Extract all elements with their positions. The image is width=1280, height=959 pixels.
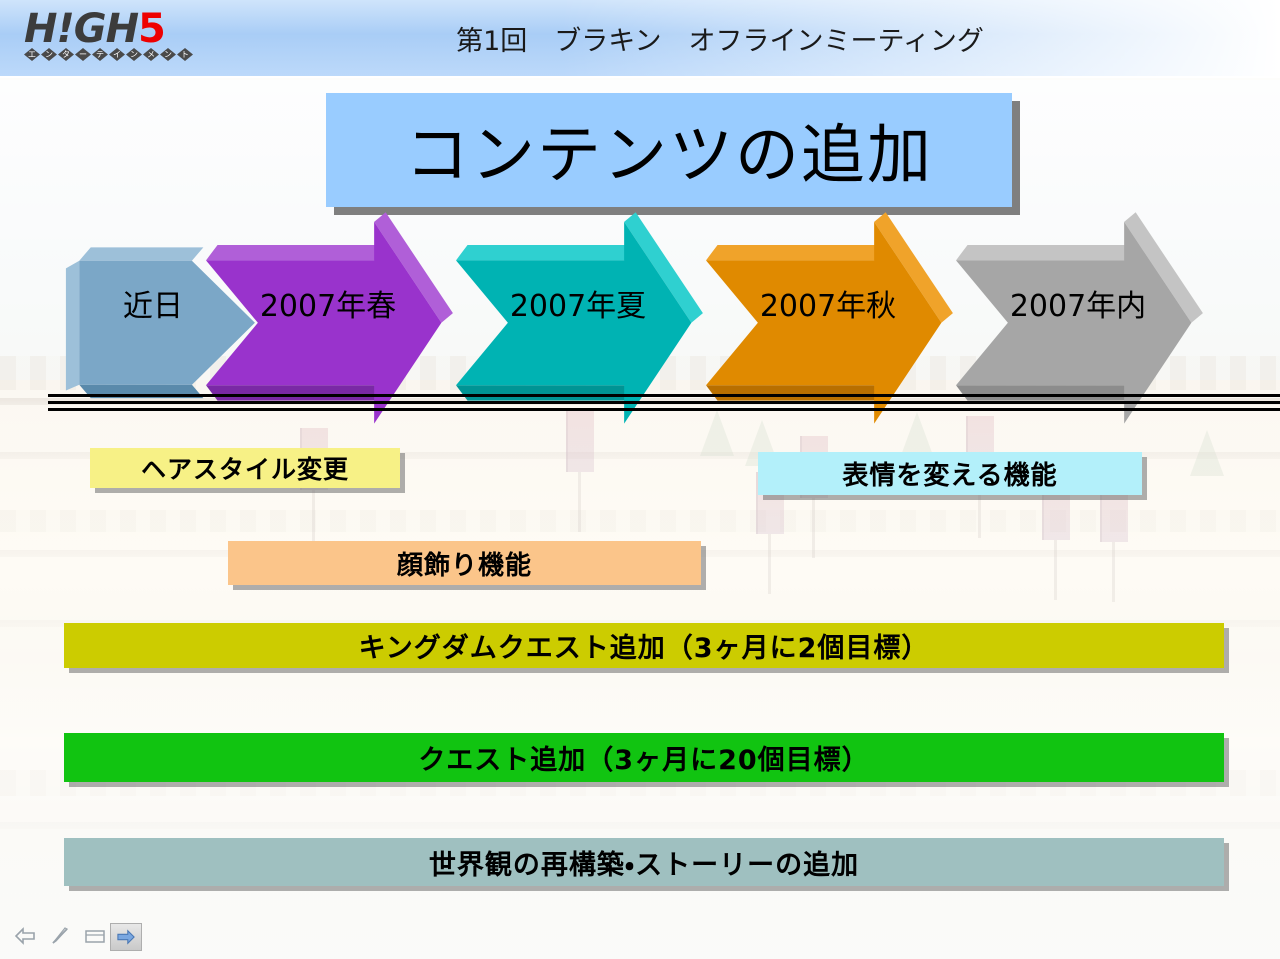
feature-bar-1: ヘアスタイル変更 [90,448,400,488]
logo-text-part2: GH [74,6,138,52]
page-title: コンテンツの追加 [405,104,933,196]
back-arrow-icon[interactable] [10,923,40,949]
timeline-arrow-3[interactable] [446,195,691,420]
page-title-box: コンテンツの追加 [326,93,1012,207]
logo-text-part1: H [24,6,56,52]
logo-exclamation-icon: ! [56,6,73,52]
divider-line [48,408,1280,411]
high5-logo: H!GH5 エンターテインメント [24,7,214,69]
logo-subtitle-char: ト [177,48,193,61]
forward-arrow-icon[interactable] [110,923,142,951]
menu-box-icon[interactable] [80,923,110,949]
timeline-arrow-4[interactable] [696,195,941,420]
divider-line [48,401,1280,404]
feature-bar-4: キングダムクエスト追加（3ヶ月に2個目標） [64,623,1224,668]
divider-rules [48,394,1280,412]
presentation-slide: H!GH5 エンターテインメント 第1回 ブラキン オフラインミーティング コン… [0,0,1280,959]
timeline-arrow-5[interactable] [946,195,1191,420]
slide-header: H!GH5 エンターテインメント 第1回 ブラキン オフラインミーティング [0,0,1280,78]
feature-bar-3: 顔飾り機能 [228,541,701,585]
logo-text-five: 5 [138,6,165,52]
logo-wordmark: H!GH5 [24,7,214,51]
header-title: 第1回 ブラキン オフラインミーティング [340,0,1100,76]
timeline-arrow-2[interactable] [196,195,441,420]
feature-bar-6: 世界観の再構築・ストーリーの追加 [64,838,1224,886]
divider-line [48,394,1280,397]
pen-icon[interactable] [46,923,76,949]
slideshow-toolbar [0,915,1280,959]
feature-bar-2: 表情を変える機能 [758,452,1142,495]
timeline-arrows: 近日2007年春2007年夏2007年秋2007年内 [0,195,1280,420]
feature-bar-5: クエスト追加（3ヶ月に20個目標） [64,733,1224,782]
